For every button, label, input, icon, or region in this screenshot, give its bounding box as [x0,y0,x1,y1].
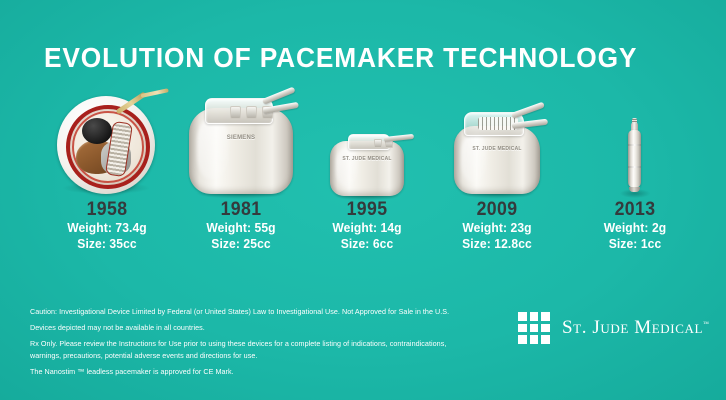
trademark-symbol: ™ [703,322,709,328]
pacemaker-timeline: 1958 Weight: 73.4g Size: 35cc SIEMENS [0,88,726,273]
round-disc-pacemaker-icon [55,96,159,200]
header: EVOLUTION OF PACEMAKER TECHNOLOGY [44,36,682,80]
logo-square [518,312,527,321]
connector-pin [246,106,257,119]
device-labels-2013: 2013 Weight: 2g Size: 1cc [556,200,714,252]
logo-wordmark-text: St. Jude Medical [562,317,703,338]
device-engraving: SIEMENS [199,134,282,143]
device-image-2009: ST. JUDE MEDICAL [418,88,576,200]
device-engraving: ST. JUDE MEDICAL [337,156,396,163]
device-lead-wire [511,102,545,119]
device-weight: Weight: 73.4g [34,220,181,236]
fineprint-line-rx-only: Rx Only. Please review the Instructions … [30,338,467,360]
page-title: EVOLUTION OF PACEMAKER TECHNOLOGY [44,42,637,74]
brand-logo: St. Jude Medical™ [518,312,709,344]
logo-wordmark: St. Jude Medical™ [562,317,709,339]
logo-square [530,312,539,321]
logo-square [530,335,539,344]
siemens-can-pacemaker-icon: SIEMENS [189,98,293,194]
device-size: Size: 35cc [34,236,181,252]
fineprint-line-availability: Devices depicted may not be available in… [30,322,467,333]
timeline-item-2013: 2013 Weight: 2g Size: 1cc [556,88,714,273]
device-connector-header [348,134,390,150]
device-specular-highlight [336,148,358,187]
logo-square [518,324,527,333]
capsule-band [628,144,641,146]
device-specular-highlight [197,118,228,178]
device-size: Size: 12.8cc [424,236,571,252]
logo-square [541,335,550,344]
device-labels-2009: 2009 Weight: 23g Size: 12.8cc [418,200,576,252]
fineprint-line-caution: Caution: Investigational Device Limited … [30,306,467,317]
fineprint-line-ce-mark: The Nanostim ™ leadless pacemaker is app… [30,366,467,377]
device-engraving: ST. JUDE MEDICAL [463,146,532,153]
device-image-2013 [556,88,714,200]
disc-black-capacitor [82,118,112,144]
device-year: 2013 [562,200,709,220]
logo-square [530,324,539,333]
device-can-housing: ST. JUDE MEDICAL [454,126,540,194]
device-year: 2009 [424,200,571,220]
connector-pin [230,106,241,119]
disc-housing [57,96,155,194]
dual-lead-can-pacemaker-icon: ST. JUDE MEDICAL [454,112,540,194]
nanostim-leadless-capsule-icon [624,122,646,194]
capsule-housing [628,130,641,188]
connector-pin [374,139,382,148]
device-year: 1958 [34,200,181,220]
logo-square [541,324,550,333]
device-weight: Weight: 2g [562,220,709,236]
legal-fineprint: Caution: Investigational Device Limited … [30,306,480,382]
infographic-canvas: EVOLUTION OF PACEMAKER TECHNOLOGY [0,0,726,400]
device-weight: Weight: 23g [424,220,571,236]
logo-square [541,312,550,321]
device-specular-highlight [461,134,487,182]
nine-square-grid-icon [518,312,550,344]
capsule-band [628,166,641,168]
device-size: Size: 1cc [562,236,709,252]
logo-square [518,335,527,344]
timeline-item-2009: ST. JUDE MEDICAL 2009 Weight: 23g Size: … [418,88,576,273]
small-can-pacemaker-icon: ST. JUDE MEDICAL [330,134,404,196]
